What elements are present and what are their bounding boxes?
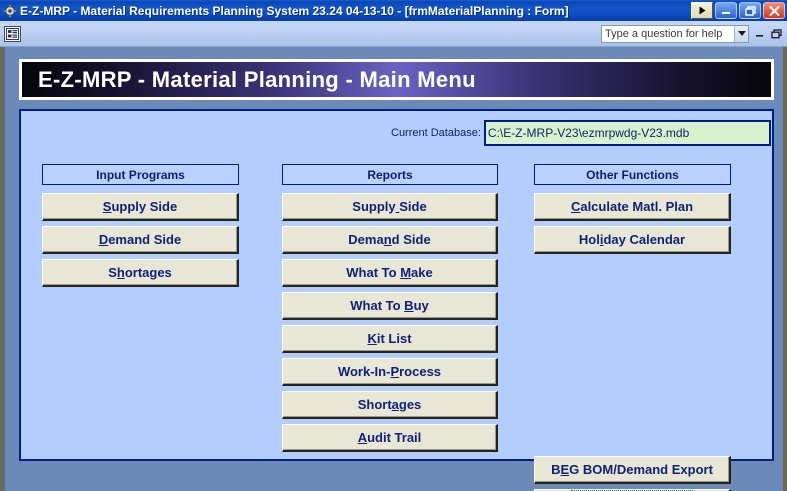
input-programs-button-shortages[interactable]: Shortages xyxy=(42,259,239,287)
input-programs-button-list: Supply SideDemand SideShortages xyxy=(42,193,239,287)
mdi-minimize-icon[interactable] xyxy=(753,26,766,42)
window-title: E-Z-MRP - Material Requirements Planning… xyxy=(20,4,691,18)
other-functions-button-list: Calculate Matl. PlanHoliday Calendar xyxy=(534,193,731,254)
current-database-label: Current Database: xyxy=(391,127,484,139)
column-reports: Reports Supply SideDemand SideWhat To Ma… xyxy=(282,164,498,457)
reports-button-list: Supply SideDemand SideWhat To MakeWhat T… xyxy=(282,193,498,452)
banner-gradient: E-Z-MRP - Material Planning - Main Menu xyxy=(22,62,771,97)
application-window: E-Z-MRP - Material Requirements Planning… xyxy=(0,0,787,491)
close-icon[interactable] xyxy=(763,2,785,19)
group-header-input-programs: Input Programs xyxy=(42,164,239,185)
form-view-icon[interactable] xyxy=(4,26,21,42)
menu-toolbar-strip: Type a question for help xyxy=(0,21,787,47)
column-other-functions: Other Functions Calculate Matl. PlanHoli… xyxy=(534,164,731,259)
menustrip-right: Type a question for help xyxy=(601,25,787,43)
window-controls xyxy=(691,2,787,19)
help-placeholder: Type a question for help xyxy=(602,28,722,40)
reports-button-audit-trail[interactable]: Audit Trail xyxy=(282,424,498,452)
title-bar: E-Z-MRP - Material Requirements Planning… xyxy=(0,0,787,21)
mdi-client-area: E-Z-MRP - Material Planning - Main Menu … xyxy=(4,47,783,491)
other-functions-bottom-button-list: BEG BOM/Demand ExportExit To Main Menu xyxy=(534,456,731,491)
page-title: E-Z-MRP - Material Planning - Main Menu xyxy=(22,67,476,93)
menustrip-left xyxy=(0,26,21,42)
group-header-other-functions: Other Functions xyxy=(534,164,731,185)
reports-button-demand-side[interactable]: Demand Side xyxy=(282,226,498,254)
reports-button-what-to-make[interactable]: What To Make xyxy=(282,259,498,287)
current-database-row: Current Database: C:\E-Z-MRP-V23\ezmrpwd… xyxy=(391,119,771,147)
restore-window-icon[interactable] xyxy=(691,2,713,19)
reports-button-shortages[interactable]: Shortages xyxy=(282,391,498,419)
input-programs-button-supply-side[interactable]: Supply Side xyxy=(42,193,239,221)
maximize-icon[interactable] xyxy=(739,2,761,19)
help-question-input[interactable]: Type a question for help xyxy=(601,25,749,43)
other-functions-button-holiday-calendar[interactable]: Holiday Calendar xyxy=(534,226,731,254)
mdi-restore-window-icon[interactable] xyxy=(770,26,783,42)
app-gear-icon xyxy=(0,0,20,21)
minimize-icon[interactable] xyxy=(715,2,737,19)
group-header-reports: Reports xyxy=(282,164,498,185)
reports-button-kit-list[interactable]: Kit List xyxy=(282,325,498,353)
other-functions-button-beg-bom-demand-export[interactable]: BEG BOM/Demand Export xyxy=(534,456,731,484)
banner-frame: E-Z-MRP - Material Planning - Main Menu xyxy=(19,59,774,100)
reports-button-work-in-process[interactable]: Work-In-Process xyxy=(282,358,498,386)
input-programs-button-demand-side[interactable]: Demand Side xyxy=(42,226,239,254)
current-database-value: C:\E-Z-MRP-V23\ezmrpwdg-V23.mdb xyxy=(486,126,689,140)
main-menu-panel: Current Database: C:\E-Z-MRP-V23\ezmrpwd… xyxy=(19,109,774,461)
reports-button-supply-side[interactable]: Supply Side xyxy=(282,193,498,221)
chevron-down-icon[interactable] xyxy=(734,26,748,42)
other-functions-button-calculate-matl-plan[interactable]: Calculate Matl. Plan xyxy=(534,193,731,221)
column-input-programs: Input Programs Supply SideDemand SideSho… xyxy=(42,164,239,292)
current-database-field[interactable]: C:\E-Z-MRP-V23\ezmrpwdg-V23.mdb xyxy=(484,120,771,146)
reports-button-what-to-buy[interactable]: What To Buy xyxy=(282,292,498,320)
